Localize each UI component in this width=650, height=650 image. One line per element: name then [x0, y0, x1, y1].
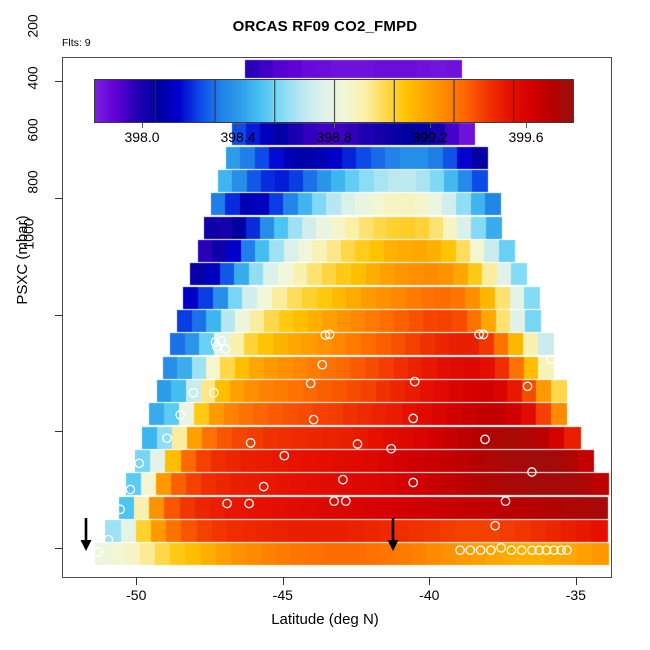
x-axis-tick [576, 577, 577, 585]
flights-count-label: Flts: 9 [62, 37, 91, 49]
colorbar-tick-label: 398.0 [107, 129, 177, 145]
colorbar-tick [430, 123, 431, 128]
colorbar-tick [238, 123, 239, 128]
colorbar-gradient [94, 79, 574, 123]
page-title: ORCAS RF09 CO2_FMPD [0, 18, 650, 35]
x-axis-tick [136, 577, 137, 585]
x-axis-tick [283, 577, 284, 585]
colorbar-tick-label: 398.4 [203, 129, 273, 145]
colorbar-tick-label: 399.6 [491, 129, 561, 145]
colorbar-tick [142, 123, 143, 128]
colorbar-tick-label: 399.2 [395, 129, 465, 145]
y-axis-tick-text: 400 [24, 66, 40, 89]
x-axis-tick-label: -40 [394, 587, 464, 603]
y-axis-tick-text: 600 [24, 118, 40, 141]
y-axis-tick-label: 600 [0, 104, 44, 156]
colorbar-tick-label: 398.8 [299, 129, 369, 145]
x-axis-tick [429, 577, 430, 585]
colorbar: 398.0398.4398.8399.2399.6 [94, 79, 574, 123]
x-axis-tick-label: -35 [541, 587, 611, 603]
y-axis-title: PSXC (mbar) [14, 160, 31, 360]
y-axis-tick-label: 400 [0, 52, 44, 104]
colorbar-tick [334, 123, 335, 128]
x-axis-tick-label: -45 [248, 587, 318, 603]
x-axis-title: Latitude (deg N) [0, 611, 650, 628]
colorbar-tick [526, 123, 527, 128]
x-axis-tick-label: -50 [101, 587, 171, 603]
